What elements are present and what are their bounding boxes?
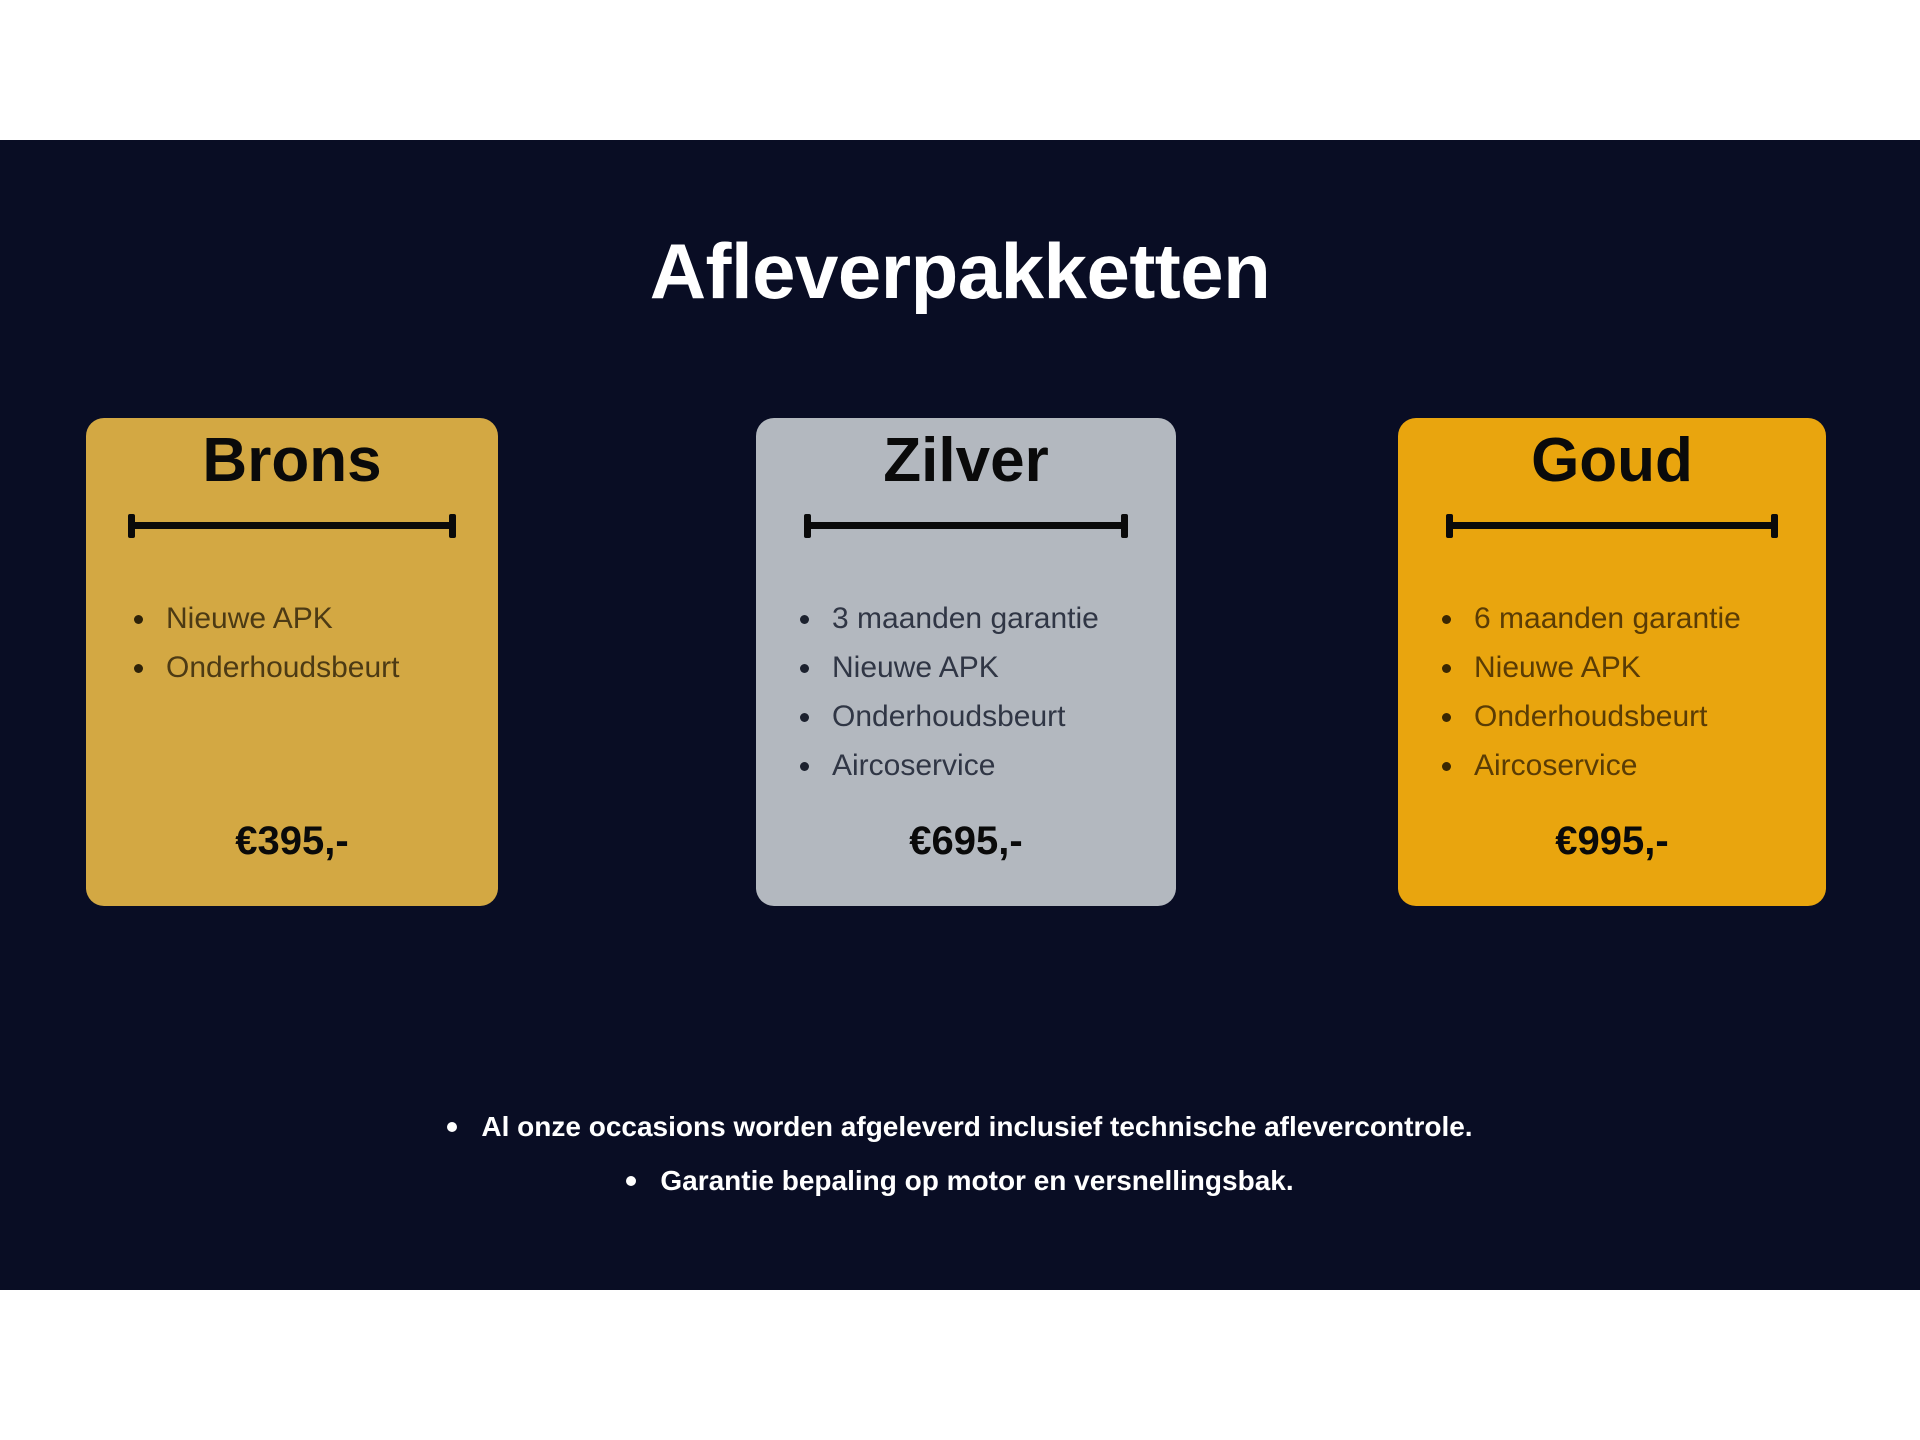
list-item: Nieuwe APK: [792, 643, 1099, 692]
list-item: 6 maanden garantie: [1434, 594, 1741, 643]
dimension-line-icon: [1446, 514, 1778, 536]
package-card-goud[interactable]: Goud 6 maanden garantie Nieuwe APK Onder…: [1398, 418, 1826, 906]
bullet-dot-icon: [800, 664, 809, 673]
footer-note-label: Al onze occasions worden afgeleverd incl…: [481, 1100, 1472, 1154]
footer-notes: Al onze occasions worden afgeleverd incl…: [0, 1100, 1920, 1208]
feature-label: 3 maanden garantie: [832, 602, 1099, 635]
feature-label: Onderhoudsbeurt: [166, 651, 400, 684]
slide-canvas: Afleverpakketten Brons Nieuwe APK Onderh…: [0, 140, 1920, 1290]
package-name-zilver: Zilver: [756, 430, 1176, 492]
bullet-dot-icon: [447, 1122, 457, 1132]
list-item: Nieuwe APK: [126, 594, 400, 643]
dimension-bar-icon: [804, 522, 1128, 529]
feature-label: Nieuwe APK: [1474, 651, 1641, 684]
dimension-line-icon: [804, 514, 1128, 536]
footer-note-label: Garantie bepaling op motor en versnellin…: [660, 1154, 1293, 1208]
footer-note-2: Garantie bepaling op motor en versnellin…: [0, 1154, 1920, 1208]
bullet-dot-icon: [1442, 664, 1451, 673]
package-card-zilver[interactable]: Zilver 3 maanden garantie Nieuwe APK Ond…: [756, 418, 1176, 906]
card-header-goud: Goud: [1398, 418, 1826, 536]
feature-list-brons: Nieuwe APK Onderhoudsbeurt: [126, 594, 400, 692]
package-name-goud: Goud: [1398, 430, 1826, 492]
bullet-dot-icon: [134, 615, 143, 624]
list-item: Aircoservice: [792, 741, 1099, 790]
bullet-dot-icon: [626, 1176, 636, 1186]
page-title: Afleverpakketten: [0, 232, 1920, 310]
list-item: Aircoservice: [1434, 741, 1741, 790]
dimension-cap-right-icon: [1121, 514, 1128, 538]
list-item: 3 maanden garantie: [792, 594, 1099, 643]
dimension-line-icon: [128, 514, 456, 536]
dimension-bar-icon: [1446, 522, 1778, 529]
bullet-dot-icon: [1442, 615, 1451, 624]
bullet-dot-icon: [1442, 713, 1451, 722]
bullet-dot-icon: [800, 762, 809, 771]
feature-label: Onderhoudsbeurt: [832, 700, 1066, 733]
package-price-zilver: €695,-: [756, 819, 1176, 864]
feature-label: Nieuwe APK: [166, 602, 333, 635]
feature-label: Nieuwe APK: [832, 651, 999, 684]
package-price-brons: €395,-: [86, 819, 498, 864]
dimension-cap-right-icon: [449, 514, 456, 538]
feature-list-goud: 6 maanden garantie Nieuwe APK Onderhouds…: [1434, 594, 1741, 790]
feature-list-zilver: 3 maanden garantie Nieuwe APK Onderhouds…: [792, 594, 1099, 790]
feature-label: Aircoservice: [1474, 749, 1637, 782]
dimension-cap-right-icon: [1771, 514, 1778, 538]
list-item: Onderhoudsbeurt: [126, 643, 400, 692]
list-item: Nieuwe APK: [1434, 643, 1741, 692]
bullet-dot-icon: [800, 615, 809, 624]
bullet-dot-icon: [134, 664, 143, 673]
bullet-dot-icon: [800, 713, 809, 722]
package-price-goud: €995,-: [1398, 819, 1826, 864]
list-item: Onderhoudsbeurt: [1434, 692, 1741, 741]
feature-label: Onderhoudsbeurt: [1474, 700, 1708, 733]
package-name-brons: Brons: [86, 430, 498, 492]
footer-note-1: Al onze occasions worden afgeleverd incl…: [0, 1100, 1920, 1154]
package-card-list: Brons Nieuwe APK Onderhoudsbeurt €395,- …: [0, 418, 1920, 898]
feature-label: 6 maanden garantie: [1474, 602, 1741, 635]
list-item: Onderhoudsbeurt: [792, 692, 1099, 741]
dimension-bar-icon: [128, 522, 456, 529]
feature-label: Aircoservice: [832, 749, 995, 782]
card-header-brons: Brons: [86, 418, 498, 536]
package-card-brons[interactable]: Brons Nieuwe APK Onderhoudsbeurt €395,-: [86, 418, 498, 906]
card-header-zilver: Zilver: [756, 418, 1176, 536]
bullet-dot-icon: [1442, 762, 1451, 771]
